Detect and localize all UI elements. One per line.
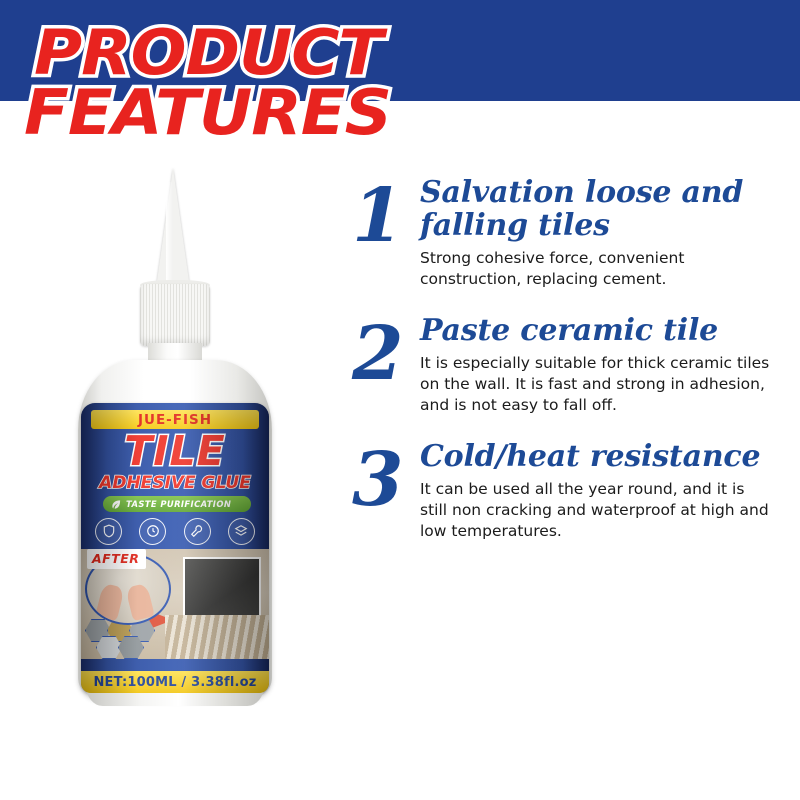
brand-name: JUE-FISH	[138, 412, 212, 428]
feature-body: It is especially suitable for thick cera…	[420, 353, 772, 416]
label-icon-row	[95, 518, 255, 544]
taste-purification-badge: TASTE PURIFICATION	[103, 496, 251, 512]
leaf-icon	[110, 499, 122, 510]
feature-heading: Salvation loose and falling tiles	[420, 176, 772, 242]
shield-icon	[95, 518, 122, 545]
hand-right	[125, 583, 155, 621]
taste-purification-label: TASTE PURIFICATION	[126, 499, 231, 509]
nozzle-highlight	[166, 182, 173, 286]
feature-item-1: 1 Salvation loose and falling tiles Stro…	[352, 176, 772, 290]
feature-list: 1 Salvation loose and falling tiles Stro…	[352, 176, 772, 566]
feature-number: 1	[352, 178, 410, 254]
feature-body: Strong cohesive force, convenient constr…	[420, 248, 772, 290]
header-band	[0, 0, 800, 101]
layers-icon	[228, 518, 255, 545]
product-subtitle: ADHESIVE GLUE	[81, 473, 269, 493]
net-content-label: NET:100ML / 3.38fl.oz	[93, 675, 256, 690]
product-features-infographic: PRODUCT FEATURES JUE-FISH TILE ADHESIVE …	[0, 0, 800, 800]
after-label: AFTER	[92, 551, 139, 566]
tool-icon	[184, 518, 211, 545]
hand-left	[95, 583, 125, 621]
feature-heading: Cold/heat resistance	[420, 440, 772, 473]
product-label: JUE-FISH TILE ADHESIVE GLUE TASTE PURIFI…	[81, 403, 269, 693]
clock-icon	[139, 518, 166, 545]
photo-dark-patch	[183, 557, 261, 619]
bottle-nozzle-icon	[156, 168, 190, 288]
after-badge: AFTER	[87, 549, 146, 569]
bottle-cap	[140, 284, 210, 346]
net-content-band: NET:100ML / 3.38fl.oz	[81, 671, 269, 693]
feature-number: 3	[352, 442, 410, 518]
feature-body: It can be used all the year round, and i…	[420, 479, 772, 542]
feature-item-2: 2 Paste ceramic tile It is especially su…	[352, 314, 772, 416]
feature-item-3: 3 Cold/heat resistance It can be used al…	[352, 440, 772, 542]
photo-adhesive-ridges	[165, 615, 269, 659]
product-bottle: JUE-FISH TILE ADHESIVE GLUE TASTE PURIFI…	[60, 160, 290, 705]
feature-number: 2	[352, 316, 410, 392]
product-name: TILE	[81, 429, 269, 473]
feature-heading: Paste ceramic tile	[420, 314, 772, 347]
